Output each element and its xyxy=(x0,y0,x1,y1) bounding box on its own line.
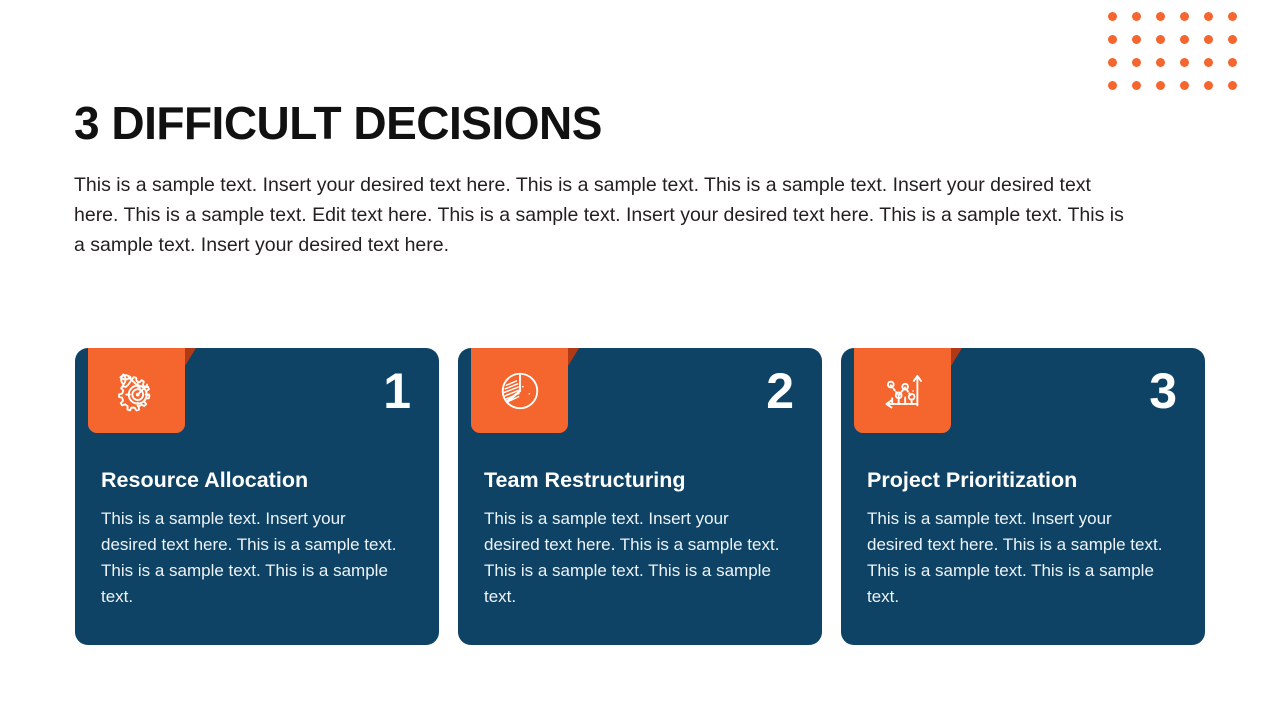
card-number-1: 1 xyxy=(383,366,411,416)
decision-card-3[interactable]: 3 Project Prioritization This is a sampl… xyxy=(841,348,1205,645)
pie-chart-icon xyxy=(497,368,543,414)
dot-grid-decoration xyxy=(1108,12,1252,104)
card-tab-fold-3 xyxy=(951,348,962,366)
grid-dot xyxy=(1108,81,1117,90)
grid-dot xyxy=(1228,12,1237,21)
grid-dot xyxy=(1180,35,1189,44)
grid-dot xyxy=(1180,12,1189,21)
grid-dot xyxy=(1180,81,1189,90)
grid-dot xyxy=(1108,12,1117,21)
grid-dot xyxy=(1204,58,1213,67)
card-body-1: This is a sample text. Insert your desir… xyxy=(101,506,401,610)
card-body-2: This is a sample text. Insert your desir… xyxy=(484,506,784,610)
card-tab-fold-1 xyxy=(185,348,196,366)
card-title-1: Resource Allocation xyxy=(101,468,419,493)
card-tab-2 xyxy=(471,348,568,433)
decision-card-2[interactable]: 2 Team Restructuring This is a sample te… xyxy=(458,348,822,645)
card-number-3: 3 xyxy=(1149,366,1177,416)
card-body-3: This is a sample text. Insert your desir… xyxy=(867,506,1167,610)
grid-dot xyxy=(1228,35,1237,44)
line-chart-icon xyxy=(880,368,926,414)
grid-dot xyxy=(1156,35,1165,44)
grid-dot xyxy=(1132,58,1141,67)
intro-paragraph: This is a sample text. Insert your desir… xyxy=(74,170,1124,260)
card-tab-3 xyxy=(854,348,951,433)
slide-canvas: 3 DIFFICULT DECISIONS This is a sample t… xyxy=(0,0,1280,720)
card-tab-1 xyxy=(88,348,185,433)
grid-dot xyxy=(1204,81,1213,90)
card-title-2: Team Restructuring xyxy=(484,468,802,493)
card-number-2: 2 xyxy=(766,366,794,416)
grid-dot xyxy=(1204,12,1213,21)
card-tab-fold-2 xyxy=(568,348,579,366)
grid-dot xyxy=(1156,12,1165,21)
grid-dot xyxy=(1108,35,1117,44)
grid-dot xyxy=(1156,58,1165,67)
grid-dot xyxy=(1132,81,1141,90)
grid-dot xyxy=(1228,58,1237,67)
gear-target-icon xyxy=(114,368,160,414)
decision-cards-group: 1 Resource Allocation This is a sample t… xyxy=(75,332,1205,647)
grid-dot xyxy=(1228,81,1237,90)
grid-dot xyxy=(1108,58,1117,67)
grid-dot xyxy=(1180,58,1189,67)
grid-dot xyxy=(1132,35,1141,44)
grid-dot xyxy=(1204,35,1213,44)
grid-dot xyxy=(1132,12,1141,21)
card-title-3: Project Prioritization xyxy=(867,468,1185,493)
page-title: 3 DIFFICULT DECISIONS xyxy=(74,96,602,150)
decision-card-1[interactable]: 1 Resource Allocation This is a sample t… xyxy=(75,348,439,645)
grid-dot xyxy=(1156,81,1165,90)
